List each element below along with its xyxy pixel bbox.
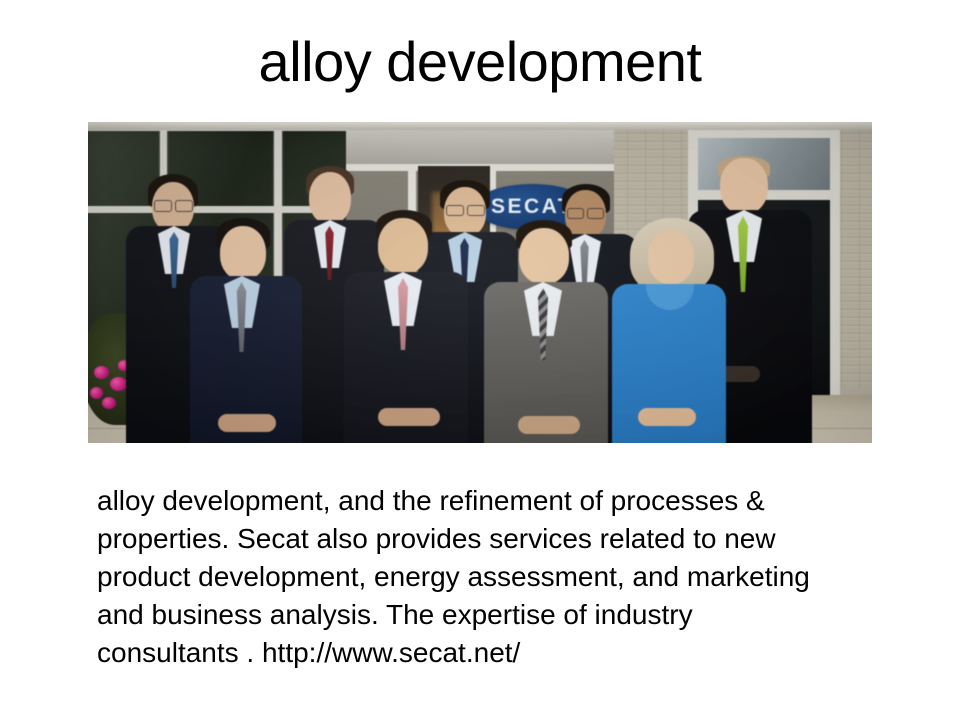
- body-line: properties. Secat also provides services…: [97, 520, 887, 558]
- flower: [90, 387, 103, 399]
- body-paragraph: alloy development, and the refinement of…: [97, 482, 887, 672]
- head: [519, 228, 569, 284]
- hands: [218, 414, 276, 432]
- hands: [378, 408, 440, 426]
- alcove-header: [346, 130, 614, 166]
- flower: [94, 366, 109, 379]
- head: [648, 230, 694, 284]
- hands: [518, 416, 580, 434]
- person-front-center: [484, 220, 612, 443]
- person-front-left: [190, 218, 308, 443]
- glasses: [175, 200, 193, 212]
- body-line: consultants . http://www.secat.net/: [97, 634, 887, 672]
- glasses: [567, 208, 584, 219]
- person-front-center-left: [344, 210, 472, 443]
- person-front-right: [608, 218, 732, 443]
- hands: [638, 408, 696, 426]
- flower: [102, 397, 116, 409]
- flower: [110, 377, 127, 391]
- glasses: [587, 208, 604, 219]
- head: [378, 218, 428, 274]
- body-line: product development, energy assessment, …: [97, 558, 887, 596]
- roofline: [88, 122, 872, 130]
- page-title: alloy development: [0, 30, 960, 94]
- photo-content: SECAT UK: [88, 122, 872, 443]
- head: [220, 226, 266, 280]
- slide: alloy development: [0, 0, 960, 720]
- glasses: [154, 200, 172, 212]
- head: [720, 158, 768, 214]
- body-line: alloy development, and the refinement of…: [97, 482, 887, 520]
- body-line: and business analysis. The expertise of …: [97, 596, 887, 634]
- group-photo: SECAT UK: [88, 122, 872, 443]
